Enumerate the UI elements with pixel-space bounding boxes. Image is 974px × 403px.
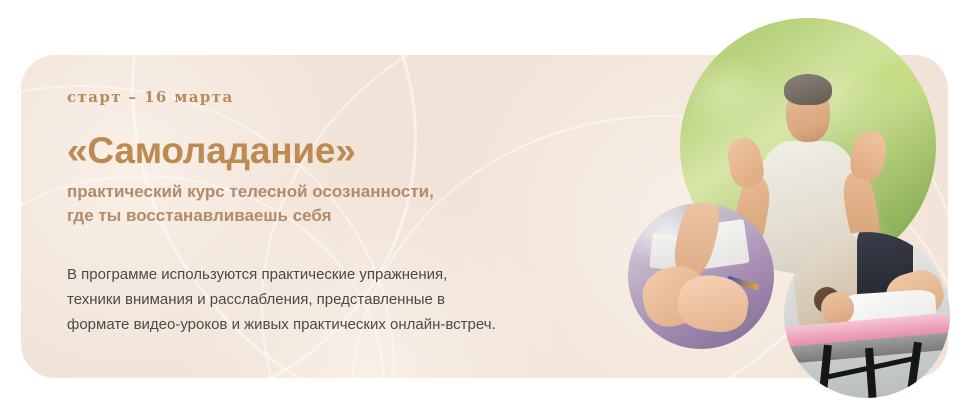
promo-banner: старт – 16 марта «Самоладание» практичес… xyxy=(0,0,974,403)
photo-detail-hand-right xyxy=(847,128,890,182)
description-line-1: В программе используются практические уп… xyxy=(67,262,627,287)
photo-detail-client-head xyxy=(821,292,854,325)
photo-detail-hand-left xyxy=(724,135,767,189)
subtitle-line-2: где ты восстанавливаешь себя xyxy=(67,204,627,228)
photo-massage-table xyxy=(784,232,950,398)
description-line-2: техники внимания и расслабления, предста… xyxy=(67,287,627,312)
photo-hands-massage xyxy=(628,203,774,349)
subtitle: практический курс телесной осознанности,… xyxy=(67,180,627,228)
banner-content: старт – 16 марта «Самоладание» практичес… xyxy=(67,88,627,337)
page-title: «Самоладание» xyxy=(67,132,627,171)
description-line-3: формате видео-уроков и живых практически… xyxy=(67,312,627,337)
subtitle-line-1: практический курс телесной осознанности, xyxy=(67,180,627,204)
photo-detail-hair xyxy=(784,74,833,105)
start-date-label: старт – 16 марта xyxy=(67,88,627,106)
description-text: В программе используются практические уп… xyxy=(67,262,627,337)
